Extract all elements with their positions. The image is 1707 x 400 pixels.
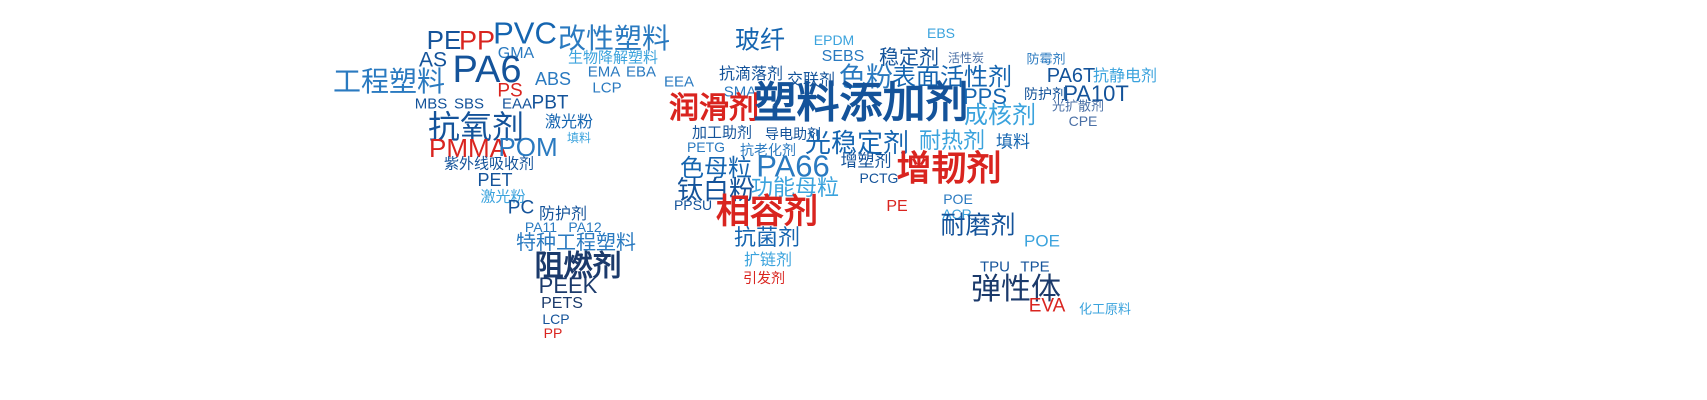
cloud-word[interactable]: POE	[943, 192, 973, 206]
cloud-word[interactable]: 润滑剂	[669, 94, 759, 124]
cloud-word[interactable]: PETG	[687, 140, 725, 154]
word-cloud-canvas: PEPPPVCGMA改性塑料玻纤EPDMEBSASPA6生物降解塑料SEBS稳定…	[0, 0, 1707, 400]
cloud-word[interactable]: 引发剂	[743, 272, 785, 286]
cloud-word[interactable]: EEA	[664, 75, 694, 90]
cloud-word[interactable]: EPDM	[814, 33, 854, 47]
cloud-word[interactable]: CPE	[1069, 114, 1098, 128]
cloud-word[interactable]: 填料	[567, 132, 591, 144]
cloud-word[interactable]: LCP	[592, 81, 621, 96]
cloud-word[interactable]: EBS	[927, 26, 955, 40]
cloud-word[interactable]: LCP	[542, 312, 569, 326]
cloud-word[interactable]: PP	[544, 326, 563, 340]
cloud-word[interactable]: 成核剂	[964, 103, 1036, 127]
cloud-word[interactable]: 增塑剂	[841, 154, 892, 171]
cloud-word[interactable]: PC	[508, 199, 534, 218]
cloud-word[interactable]: 光扩散剂	[1052, 101, 1104, 114]
cloud-word[interactable]: 工程塑料	[333, 68, 445, 96]
cloud-word[interactable]: PCTG	[860, 171, 899, 185]
cloud-word[interactable]: 耐磨剂	[940, 213, 1015, 238]
cloud-word[interactable]: EVA	[1029, 297, 1066, 316]
cloud-word[interactable]: 玻纤	[735, 28, 785, 53]
cloud-word[interactable]: PVC	[493, 18, 557, 49]
cloud-word[interactable]: POE	[1024, 233, 1060, 250]
cloud-word[interactable]: 塑料添加剂	[754, 83, 969, 126]
cloud-word[interactable]: 化工原料	[1079, 304, 1131, 317]
cloud-word[interactable]: 增韧剂	[896, 153, 1001, 188]
cloud-word[interactable]: 相容剂	[716, 195, 818, 229]
cloud-word[interactable]: 扩链剂	[744, 252, 792, 268]
cloud-word[interactable]: PET	[477, 171, 512, 189]
cloud-word[interactable]: 激光粉	[545, 114, 593, 130]
cloud-word[interactable]: ABS	[535, 70, 571, 88]
cloud-word[interactable]: PPSU	[674, 198, 712, 212]
cloud-word[interactable]: 抗菌剂	[734, 228, 800, 250]
cloud-word[interactable]: PEEK	[539, 275, 598, 297]
cloud-word[interactable]: EMA	[588, 65, 621, 80]
cloud-word[interactable]: PETS	[541, 296, 583, 312]
cloud-word[interactable]: PE	[886, 199, 907, 215]
cloud-word[interactable]: EBA	[626, 65, 656, 80]
cloud-word[interactable]: PBT	[532, 94, 569, 113]
